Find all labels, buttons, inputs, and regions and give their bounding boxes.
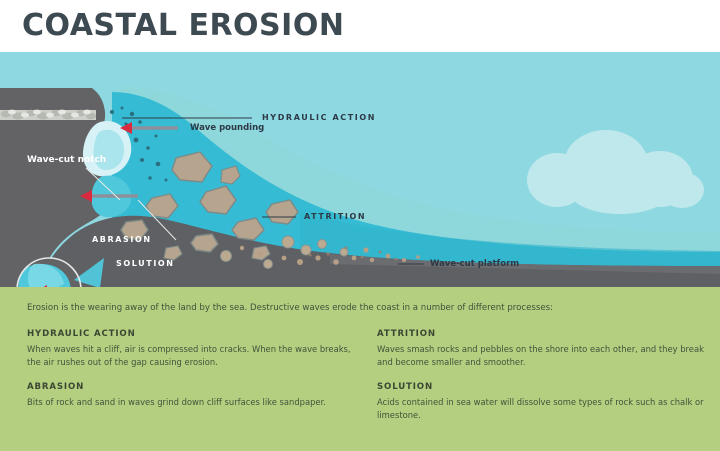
erosion-diagram: HYDRAULIC ACTION Wave pounding Wave-cut … [0,52,720,287]
info-block-heading: SOLUTION [377,382,707,392]
info-block-heading: ABRASION [27,382,357,392]
info-block-abrasion: ABRASION Bits of rock and sand in waves … [27,382,357,409]
info-block-hydraulic-action: HYDRAULIC ACTION When waves hit a cliff,… [27,329,357,369]
info-block-body: Acids contained in sea water will dissol… [377,396,707,422]
cliff-top-rubble [0,110,96,120]
info-panel: Erosion is the wearing away of the land … [0,287,720,451]
info-block-attrition: ATTRITION Waves smash rocks and pebbles … [377,329,707,369]
info-block-body: Waves smash rocks and pebbles on the sho… [377,343,707,369]
info-block-solution: SOLUTION Acids contained in sea water wi… [377,382,707,422]
infographic-page: COASTAL EROSION [0,0,720,451]
info-block-body: When waves hit a cliff, air is compresse… [27,343,357,369]
page-title: COASTAL EROSION [22,8,344,43]
intro-text: Erosion is the wearing away of the land … [27,303,697,313]
info-column-right: ATTRITION Waves smash rocks and pebbles … [377,329,707,435]
info-column-left: HYDRAULIC ACTION When waves hit a cliff,… [27,329,357,422]
title-bar: COASTAL EROSION [0,0,720,52]
info-block-heading: HYDRAULIC ACTION [27,329,357,339]
info-block-heading: ATTRITION [377,329,707,339]
info-block-body: Bits of rock and sand in waves grind dow… [27,396,357,409]
diagram-svg [0,52,720,287]
